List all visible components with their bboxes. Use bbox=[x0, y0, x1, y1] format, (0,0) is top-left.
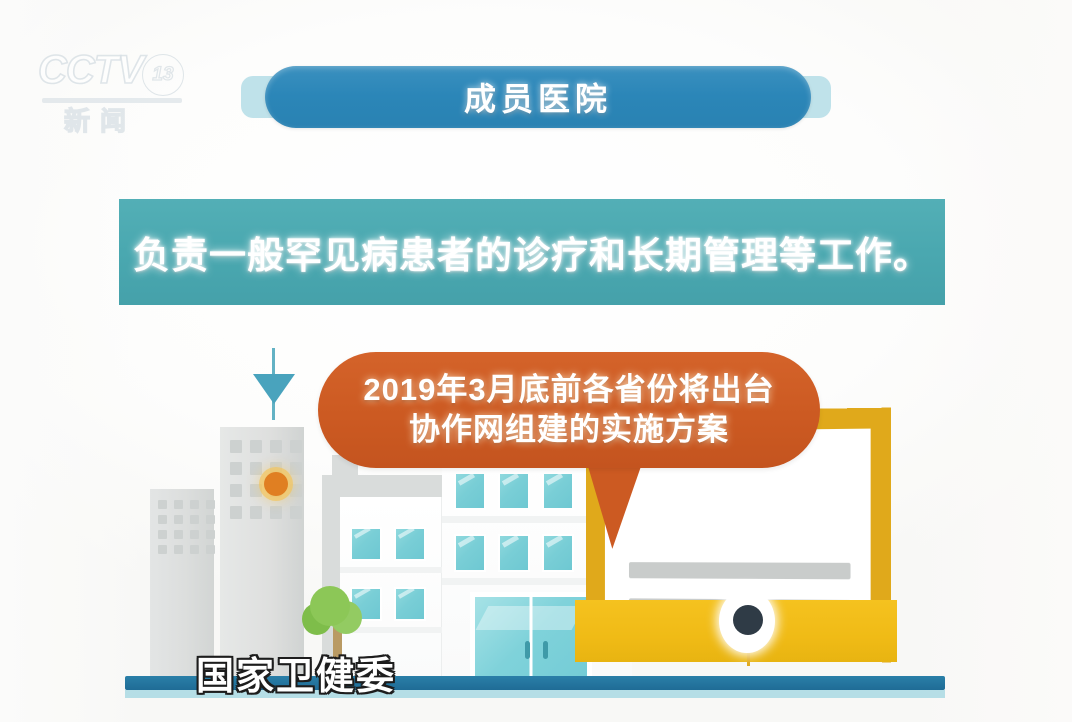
antenna-funnel-icon bbox=[253, 374, 295, 404]
hospital-entrance-doors bbox=[470, 592, 592, 681]
laptop-screen-text-bar-1 bbox=[629, 562, 851, 579]
building-tower-tall bbox=[220, 427, 304, 681]
tower-small-window-grid bbox=[158, 500, 215, 554]
location-marker-dot-icon bbox=[264, 472, 288, 496]
tree-foliage-top bbox=[310, 586, 350, 626]
broadcast-frame: CCTV 13 新闻 成员医院 负责一般罕见病患者的诊疗和长期管理等工作。 bbox=[0, 0, 1072, 722]
callout-bubble-line-2: 协作网组建的实施方案 bbox=[409, 410, 729, 450]
callout-bubble: 2019年3月底前各省份将出台 协作网组建的实施方案 bbox=[318, 352, 820, 468]
entrance-door-divider bbox=[530, 597, 533, 676]
laptop-camera-lens-icon bbox=[733, 605, 763, 635]
callout-bubble-line-1: 2019年3月底前各省份将出台 bbox=[363, 370, 774, 410]
door-handle-right-icon bbox=[543, 641, 548, 659]
door-handle-left-icon bbox=[525, 641, 530, 659]
lower-third-caption: 国家卫健委 bbox=[196, 645, 396, 700]
